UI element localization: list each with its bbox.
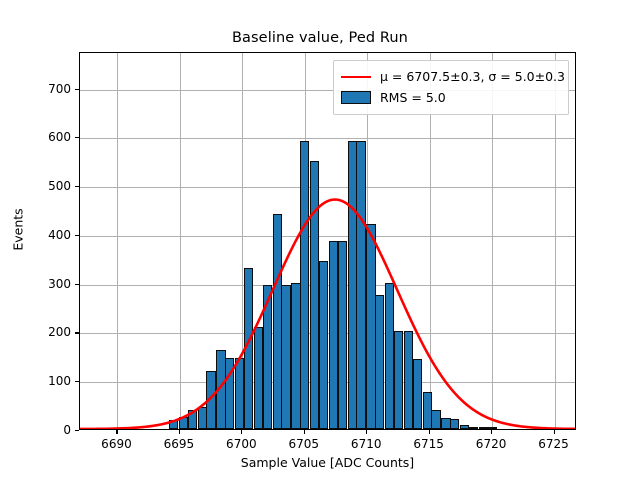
- histogram-bar: [263, 285, 272, 429]
- gridline-x-6690: [117, 53, 118, 429]
- histogram-bar: [487, 427, 496, 429]
- legend-label-fit: μ = 6707.5±0.3, σ = 5.0±0.3: [380, 69, 565, 84]
- histogram-bar: [319, 261, 328, 429]
- matplotlib-figure: Baseline value, Ped Run 6690669567006705…: [0, 0, 640, 480]
- histogram-bar: [338, 241, 347, 429]
- y-tick-mark-500: [75, 186, 79, 187]
- x-tick-label-6690: 6690: [101, 437, 132, 451]
- y-tick-mark-700: [75, 89, 79, 90]
- y-tick-mark-600: [75, 137, 79, 138]
- histogram-bar: [188, 410, 197, 430]
- x-tick-label-6705: 6705: [288, 437, 319, 451]
- y-tick-mark-100: [75, 381, 79, 382]
- x-tick-mark-6690: [116, 430, 117, 434]
- histogram-patch-swatch-icon: [341, 91, 371, 104]
- y-tick-mark-200: [75, 332, 79, 333]
- y-tick-mark-0: [75, 430, 79, 431]
- x-tick-mark-6720: [491, 430, 492, 434]
- legend-label-histogram: RMS = 5.0: [380, 90, 446, 105]
- x-tick-label-6710: 6710: [351, 437, 382, 451]
- x-tick-mark-6700: [241, 430, 242, 434]
- histogram-bar: [375, 295, 384, 429]
- gridline-y-600: [80, 138, 575, 139]
- histogram-bar: [300, 141, 309, 429]
- x-tick-label-6715: 6715: [413, 437, 444, 451]
- y-tick-label-400: 400: [31, 228, 71, 242]
- legend: μ = 6707.5±0.3, σ = 5.0±0.3 RMS = 5.0: [333, 60, 569, 115]
- y-tick-label-700: 700: [31, 82, 71, 96]
- histogram-bar: [244, 268, 253, 429]
- y-tick-label-600: 600: [31, 130, 71, 144]
- x-tick-label-6700: 6700: [226, 437, 257, 451]
- gridline-x-6695: [180, 53, 181, 429]
- histogram-bar: [281, 285, 290, 429]
- y-tick-label-0: 0: [31, 423, 71, 437]
- x-tick-mark-6710: [366, 430, 367, 434]
- legend-item-fit: μ = 6707.5±0.3, σ = 5.0±0.3: [341, 66, 561, 87]
- x-tick-mark-6715: [429, 430, 430, 434]
- legend-item-histogram: RMS = 5.0: [341, 87, 561, 108]
- histogram-bar: [169, 420, 178, 429]
- histogram-bar: [413, 359, 422, 429]
- histogram-bar: [225, 358, 234, 429]
- y-tick-label-200: 200: [31, 325, 71, 339]
- x-tick-mark-6725: [554, 430, 555, 434]
- x-tick-mark-6705: [304, 430, 305, 434]
- y-axis-label: Events: [11, 160, 26, 300]
- gridline-y-400: [80, 236, 575, 237]
- x-tick-label-6695: 6695: [164, 437, 195, 451]
- gridline-y-500: [80, 187, 575, 188]
- histogram-bar: [450, 419, 459, 429]
- fit-line-swatch-icon: [341, 76, 371, 78]
- y-tick-label-100: 100: [31, 374, 71, 388]
- y-tick-label-300: 300: [31, 277, 71, 291]
- histogram-bar: [356, 141, 365, 429]
- y-tick-label-500: 500: [31, 179, 71, 193]
- y-tick-mark-400: [75, 235, 79, 236]
- y-tick-mark-300: [75, 284, 79, 285]
- histogram-bar: [469, 427, 478, 429]
- x-tick-mark-6695: [179, 430, 180, 434]
- histogram-bar: [206, 371, 215, 429]
- histogram-bar: [431, 410, 440, 429]
- x-axis-label: Sample Value [ADC Counts]: [79, 455, 576, 470]
- histogram-bar: [394, 331, 403, 429]
- page-title: Baseline value, Ped Run: [0, 30, 640, 46]
- x-tick-label-6720: 6720: [476, 437, 507, 451]
- x-tick-label-6725: 6725: [538, 437, 569, 451]
